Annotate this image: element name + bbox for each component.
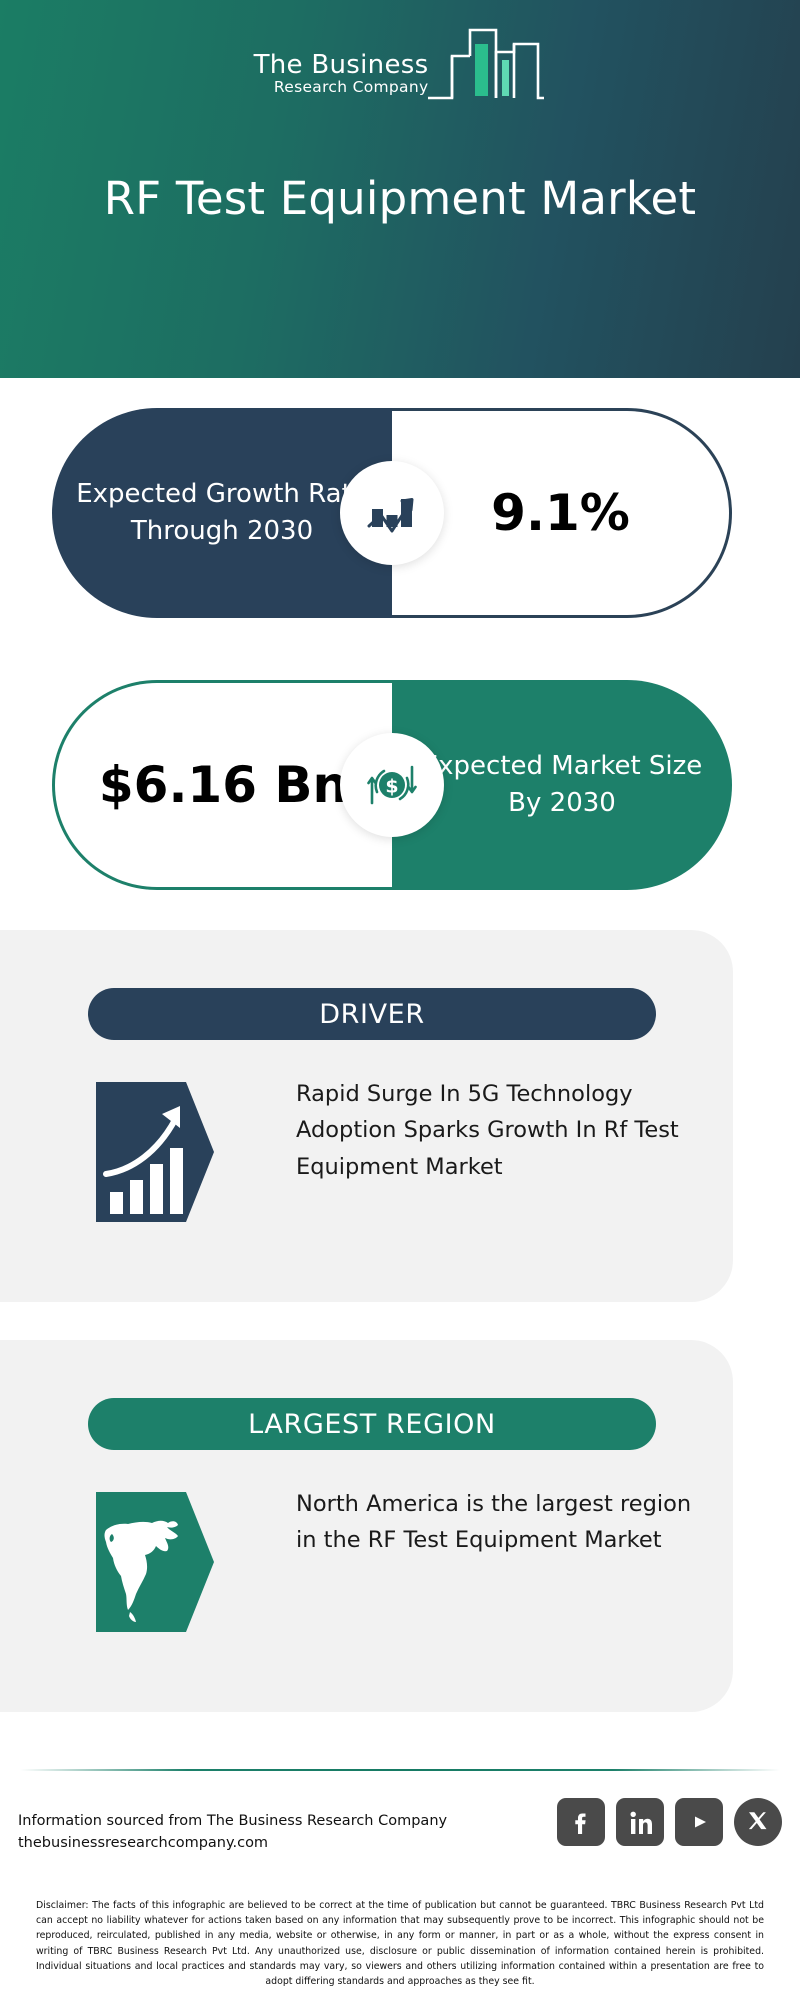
social-links <box>557 1798 782 1846</box>
footer-divider <box>20 1769 780 1771</box>
driver-pill-label: DRIVER <box>88 988 656 1040</box>
north-america-map-icon <box>96 1492 214 1632</box>
source-line-2[interactable]: thebusinessresearchcompany.com <box>18 1832 447 1854</box>
logo-line-2: Research Company <box>274 79 429 97</box>
disclaimer-text: Disclaimer: The facts of this infographi… <box>36 1898 764 1989</box>
rising-bar-chart-arrow-icon <box>96 1082 214 1222</box>
company-logo: The Business Research Company <box>0 22 800 109</box>
growth-bar-chart-arrow-icon <box>340 461 444 565</box>
x-twitter-icon[interactable] <box>734 1798 782 1846</box>
header-banner: The Business Research Company <box>0 0 800 378</box>
source-line-1: Information sourced from The Business Re… <box>18 1810 447 1832</box>
youtube-icon[interactable] <box>675 1798 723 1846</box>
stat-card-market-size: $6.16 Bn Expected Market Size By 2030 $ <box>52 680 732 890</box>
stat-card-growth-rate: Expected Growth Rate Through 2030 9.1% <box>52 408 732 618</box>
svg-text:$: $ <box>385 776 398 798</box>
linkedin-icon[interactable] <box>616 1798 664 1846</box>
largest-region-pill-label: LARGEST REGION <box>88 1398 656 1450</box>
infographic-page: The Business Research Company <box>0 0 800 2000</box>
largest-region-body-text: North America is the largest region in t… <box>296 1486 716 1559</box>
largest-region-panel: LARGEST REGION North America is the larg… <box>0 1340 733 1712</box>
bar-chart-logo-mark-icon <box>426 22 546 105</box>
logo-line-1: The Business <box>254 52 429 79</box>
driver-panel: DRIVER Rapid Surge In 5G Technology Adop… <box>0 930 733 1302</box>
source-credit: Information sourced from The Business Re… <box>18 1810 447 1855</box>
dollar-circular-arrows-icon: $ <box>340 733 444 837</box>
page-title: RF Test Equipment Market <box>0 172 800 225</box>
driver-body-text: Rapid Surge In 5G Technology Adoption Sp… <box>296 1076 716 1185</box>
facebook-icon[interactable] <box>557 1798 605 1846</box>
